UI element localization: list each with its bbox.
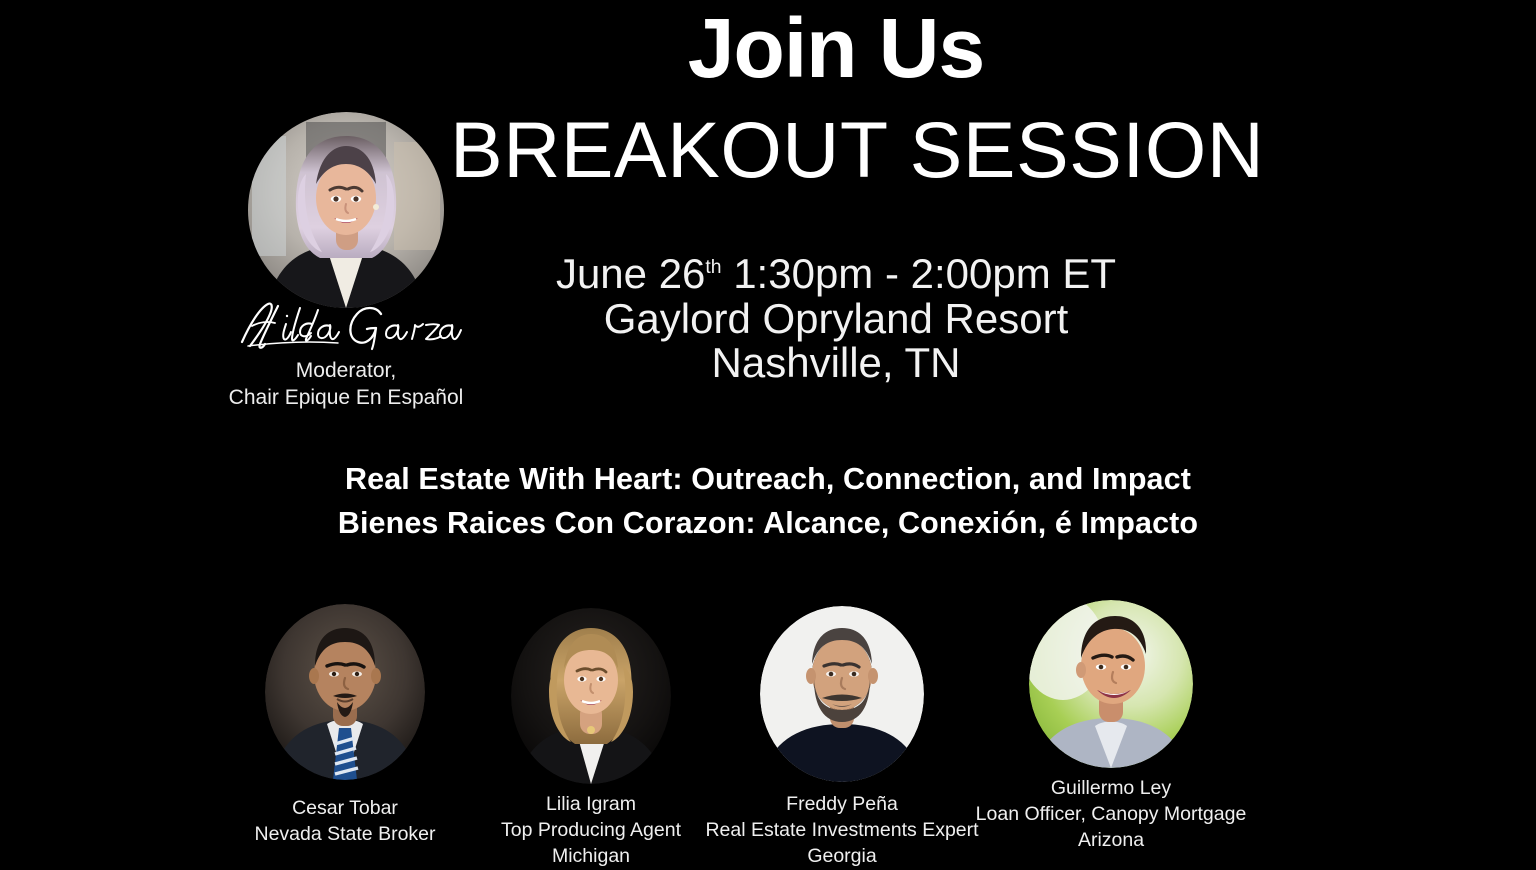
avatar (511, 608, 671, 784)
page-title: Join Us (450, 6, 1222, 92)
moderator-role: Moderator, Chair Epique En Español (186, 358, 506, 411)
panelist-caption: Guillermo Ley Loan Officer, Canopy Mortg… (946, 776, 1276, 854)
event-venue: Gaylord Opryland Resort (500, 297, 1172, 342)
session-title-spanish: Bienes Raices Con Corazon: Alcance, Cone… (0, 502, 1536, 546)
session-title-english: Real Estate With Heart: Outreach, Connec… (0, 458, 1536, 502)
moderator-role-line2: Chair Epique En Español (186, 385, 506, 412)
event-datetime: June 26th 1:30pm - 2:00pm ET (500, 252, 1172, 297)
avatar (1029, 600, 1193, 768)
subtitle-breakout-session: BREAKOUT SESSION (450, 108, 1222, 192)
avatar (265, 604, 425, 780)
moderator-signature (186, 294, 506, 356)
list-item: Guillermo Ley Loan Officer, Canopy Mortg… (946, 600, 1276, 854)
avatar (244, 112, 449, 308)
event-details: June 26th 1:30pm - 2:00pm ET Gaylord Opr… (500, 252, 1172, 386)
panelist-name: Guillermo Ley (946, 776, 1276, 802)
panelist-list: Cesar Tobar Nevada State Broker (0, 596, 1536, 864)
moderator-role-line1: Moderator, (186, 358, 506, 385)
moderator-block: Moderator, Chair Epique En Español (186, 112, 506, 411)
panelist-location: Arizona (946, 828, 1276, 854)
session-title-block: Real Estate With Heart: Outreach, Connec… (0, 458, 1536, 546)
headline-block: Join Us BREAKOUT SESSION (450, 6, 1222, 191)
avatar (760, 606, 924, 782)
event-time: 1:30pm - 2:00pm ET (722, 250, 1117, 297)
date-ordinal-suffix: th (705, 257, 721, 278)
poster-canvas: Join Us BREAKOUT SESSION June 26th 1:30p… (0, 0, 1536, 864)
event-city: Nashville, TN (500, 341, 1172, 386)
panelist-role: Loan Officer, Canopy Mortgage (946, 802, 1276, 828)
event-date: June 26 (556, 250, 705, 297)
